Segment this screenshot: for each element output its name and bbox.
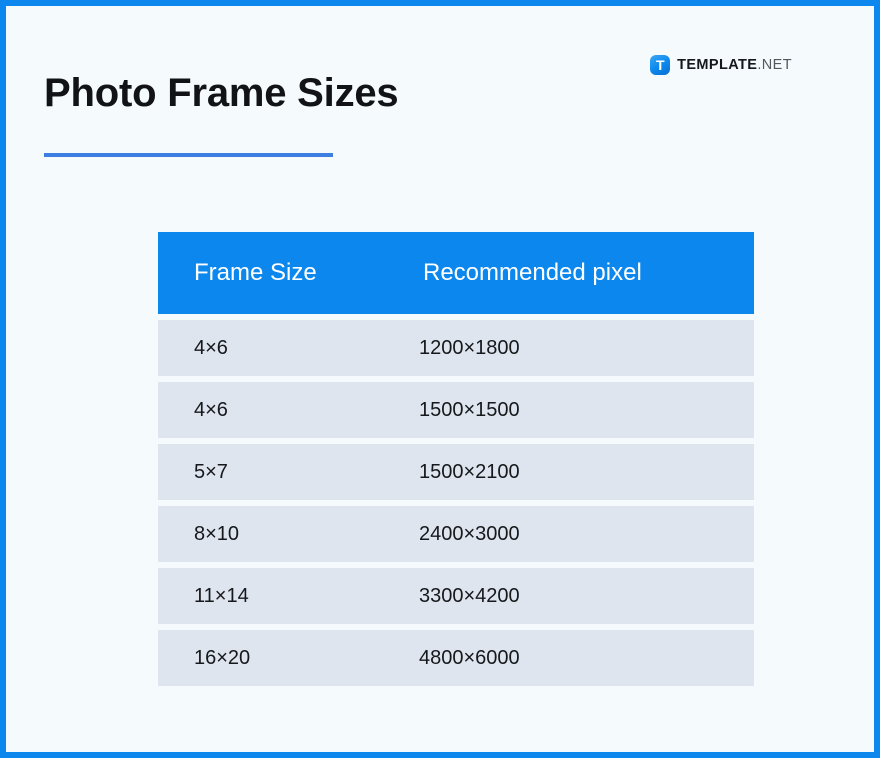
template-logo-icon: T <box>650 55 670 75</box>
document-canvas: T TEMPLATE.NET Photo Frame Sizes Frame S… <box>6 6 874 752</box>
cell-recommended-pixel: 1500×1500 <box>415 400 754 420</box>
cell-recommended-pixel: 4800×6000 <box>415 648 754 668</box>
brand-tld: .NET <box>757 57 792 73</box>
cell-frame-size: 16×20 <box>158 648 415 668</box>
column-header-recommended-pixel: Recommended pixel <box>415 261 754 285</box>
table-row: 5×7 1500×2100 <box>158 444 754 500</box>
title-underline-rule <box>44 153 333 157</box>
table-header-row: Frame Size Recommended pixel <box>158 232 754 314</box>
cell-recommended-pixel: 1200×1800 <box>415 338 754 358</box>
brand-logo: T TEMPLATE.NET <box>650 55 792 75</box>
cell-recommended-pixel: 1500×2100 <box>415 462 754 482</box>
frame-sizes-table: Frame Size Recommended pixel 4×6 1200×18… <box>158 232 754 686</box>
table-row: 11×14 3300×4200 <box>158 568 754 624</box>
table-row: 8×10 2400×3000 <box>158 506 754 562</box>
table-row: 4×6 1500×1500 <box>158 382 754 438</box>
cell-frame-size: 5×7 <box>158 462 415 482</box>
page-title: Photo Frame Sizes <box>44 68 398 118</box>
table-row: 4×6 1200×1800 <box>158 320 754 376</box>
brand-name: TEMPLATE <box>677 57 757 73</box>
logo-letter: T <box>656 58 664 72</box>
cell-frame-size: 4×6 <box>158 400 415 420</box>
cell-recommended-pixel: 2400×3000 <box>415 524 754 544</box>
cell-frame-size: 4×6 <box>158 338 415 358</box>
cell-frame-size: 11×14 <box>158 586 415 606</box>
table-row: 16×20 4800×6000 <box>158 630 754 686</box>
cell-recommended-pixel: 3300×4200 <box>415 586 754 606</box>
column-header-frame-size: Frame Size <box>158 261 415 285</box>
brand-wordmark: TEMPLATE.NET <box>677 58 792 73</box>
cell-frame-size: 8×10 <box>158 524 415 544</box>
